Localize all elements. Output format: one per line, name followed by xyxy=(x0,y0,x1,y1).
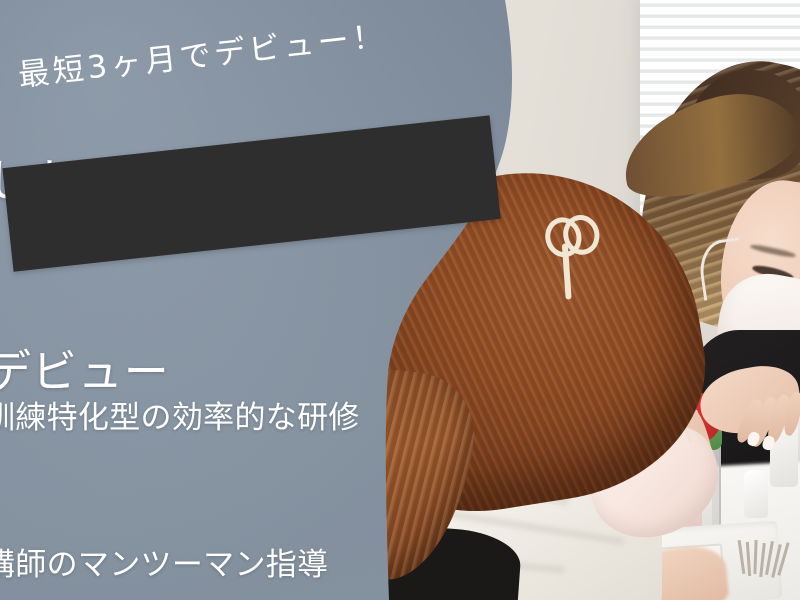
feature-item: 訓練特化型の効率的な研修 xyxy=(0,394,434,443)
white-bottle-small xyxy=(744,470,768,518)
feature-item: 講師のマンツーマン指導 xyxy=(0,541,434,590)
nail-brushes xyxy=(740,540,798,600)
feature-list: 訓練特化型の効率的な研修 講師のマンツーマン指導 向上のための講習会 後のフォロ… xyxy=(0,296,434,600)
promo-banner: した研修制度で デビュー 最短3ヶ月でデビュー！ 訓練特化型の効率的な研修 講師… xyxy=(0,0,800,600)
